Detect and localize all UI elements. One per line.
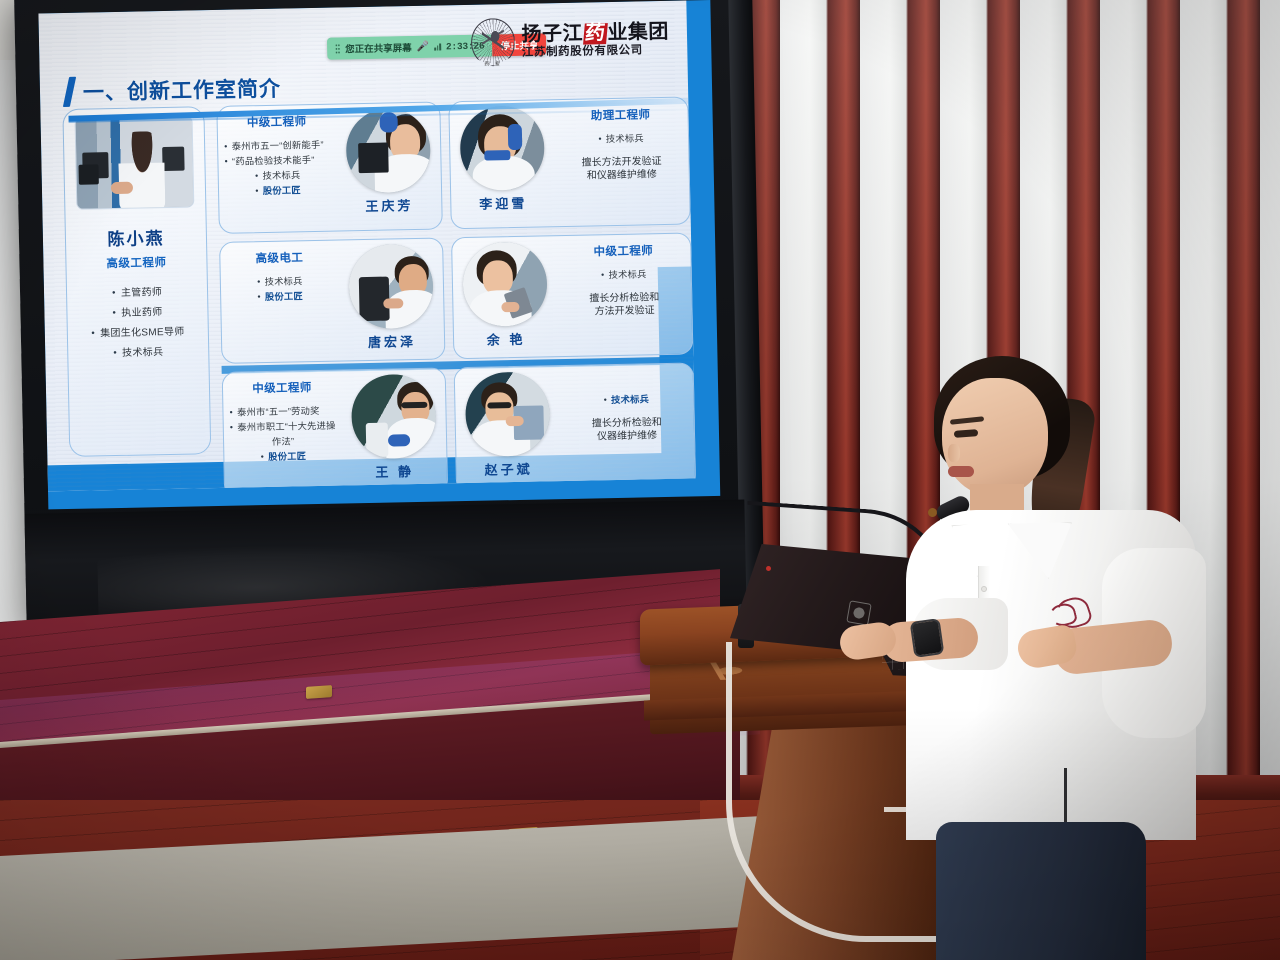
list-item: 技术标兵 [563, 268, 685, 282]
presenter-mouth [948, 466, 974, 477]
slide-title-block: 一、创新工作室简介 [66, 73, 282, 107]
member-description: 擅长方法开发验证 和仪器维护维修 [560, 154, 683, 183]
list-item: 主管药师 [73, 282, 201, 300]
leader-profile-card: 陈小燕 高级工程师 主管药师 执业药师 集团生化SME导师 技术标兵 [62, 106, 211, 457]
leader-name: 陈小燕 [66, 223, 206, 251]
company-logo: 药 鉴 扬子江 药 业集团 江苏制药股份有限公司 [470, 15, 669, 67]
member-photo [462, 241, 548, 327]
list-item: 泰州市“五一”劳动奖 [229, 405, 335, 419]
member-photo [351, 374, 437, 460]
member-card-grid: 中级工程师 泰州市五一“创新能手” “药品检验技术能手” 技术标兵 股份工匠 [216, 96, 696, 491]
member-card: 技术标兵 擅长分析检验和 仪器维护维修 [454, 362, 696, 491]
member-card: 高级电工 技术标兵 股份工匠 [219, 237, 445, 363]
laptop-logo-icon [846, 600, 871, 625]
member-name: 赵子斌 [484, 459, 532, 479]
member-credentials: 技术标兵 [560, 129, 682, 150]
list-item: 技术标兵 [565, 393, 687, 407]
leader-photo [75, 115, 195, 209]
emblem-label: 药 鉴 [471, 60, 515, 68]
list-item: 集团生化SME导师 [74, 322, 202, 340]
member-card: 中级工程师 技术标兵 擅长分析检验和 方法开发验证 [451, 232, 693, 359]
lid-indicator-icon [766, 566, 771, 571]
member-credentials: 泰州市五一“创新能手” “药品检验技术能手” 技术标兵 股份工匠 [224, 136, 331, 202]
presentation-slide: 您正在共享屏幕 🎤 2:33:26 停止共享 药 鉴 [38, 0, 720, 509]
company-name-part-a: 扬子江 [521, 24, 583, 46]
room-scene: 您正在共享屏幕 🎤 2:33:26 停止共享 药 鉴 [0, 0, 1280, 960]
member-name: 李迎雪 [479, 193, 527, 213]
member-card: 助理工程师 技术标兵 擅长方法开发验证 和仪器维护维修 [448, 96, 691, 229]
list-item: 作法” [230, 435, 336, 449]
list-item: 技术标兵 [225, 169, 331, 183]
slide-canvas: 您正在共享屏幕 🎤 2:33:26 停止共享 药 鉴 [38, 1, 695, 492]
list-item: 技术标兵 [560, 132, 682, 146]
microphone-icon[interactable]: 🎤 [417, 41, 430, 52]
member-name: 王庆芳 [365, 195, 413, 215]
slide-title: 一、创新工作室简介 [83, 73, 282, 107]
list-item: 股份工匠 [225, 185, 331, 199]
member-credentials: 技术标兵 [565, 390, 687, 411]
member-credentials: 技术标兵 股份工匠 [227, 272, 334, 308]
member-card: 中级工程师 泰州市“五一”劳动奖 泰州市职工“十大先进操 作法” 股份工匠 [222, 367, 448, 491]
member-photo [345, 108, 431, 194]
drag-handle-icon[interactable] [335, 43, 340, 54]
member-name: 王 静 [375, 461, 414, 481]
signal-strength-icon [434, 42, 441, 50]
company-subsidiary: 江苏制药股份有限公司 [522, 44, 670, 59]
shirt-button [981, 586, 987, 592]
presenter-trousers [936, 822, 1146, 960]
member-photo [465, 371, 551, 457]
list-item: 泰州市五一“创新能手” [224, 139, 330, 153]
member-role: 中级工程师 [562, 242, 684, 260]
smartwatch[interactable] [910, 618, 945, 658]
member-credentials: 泰州市“五一”劳动奖 泰州市职工“十大先进操 作法” 股份工匠 [229, 402, 336, 468]
member-role: 高级电工 [226, 249, 332, 267]
member-photo [459, 105, 545, 191]
company-name-part-c: 业集团 [607, 22, 669, 44]
list-item: “药品检验技术能手” [224, 154, 330, 168]
led-wall-display: 您正在共享屏幕 🎤 2:33:26 停止共享 药 鉴 [14, 0, 747, 632]
list-item: 泰州市职工“十大先进操 [230, 420, 336, 434]
leader-credentials: 主管药师 执业药师 集团生化SME导师 技术标兵 [73, 282, 202, 360]
list-item: 股份工匠 [230, 450, 336, 464]
company-logo-text: 扬子江 药 业集团 江苏制药股份有限公司 [521, 22, 669, 59]
member-description: 擅长分析检验和 方法开发验证 [563, 290, 686, 319]
member-name: 余 艳 [487, 329, 526, 349]
wreath-emblem-icon: 药 鉴 [470, 18, 515, 67]
member-photo [348, 244, 434, 330]
share-status-label: 您正在共享屏幕 [345, 40, 412, 55]
floor-outlet [306, 685, 332, 699]
member-card: 中级工程师 泰州市五一“创新能手” “药品检验技术能手” 技术标兵 股份工匠 [216, 101, 443, 233]
list-item: 技术标兵 [227, 275, 333, 289]
presenter-nose [948, 444, 960, 462]
list-item: 股份工匠 [227, 290, 333, 304]
member-name: 唐宏泽 [368, 331, 416, 351]
leader-title: 高级工程师 [66, 253, 206, 272]
company-name: 扬子江 药 业集团 [521, 22, 669, 46]
company-name-part-b: 药 [583, 23, 607, 44]
list-item: 执业药师 [73, 302, 201, 320]
title-accent-bar [63, 77, 76, 107]
list-item: 技术标兵 [74, 342, 202, 360]
member-role: 中级工程师 [229, 379, 335, 397]
presenter: 龙凤堂 LONG FENG TANG [906, 352, 1216, 960]
member-credentials: 技术标兵 [563, 265, 685, 286]
member-description: 擅长分析检验和 仪器维护维修 [566, 415, 689, 444]
share-status: 您正在共享屏幕 🎤 2:33:26 [327, 34, 493, 59]
